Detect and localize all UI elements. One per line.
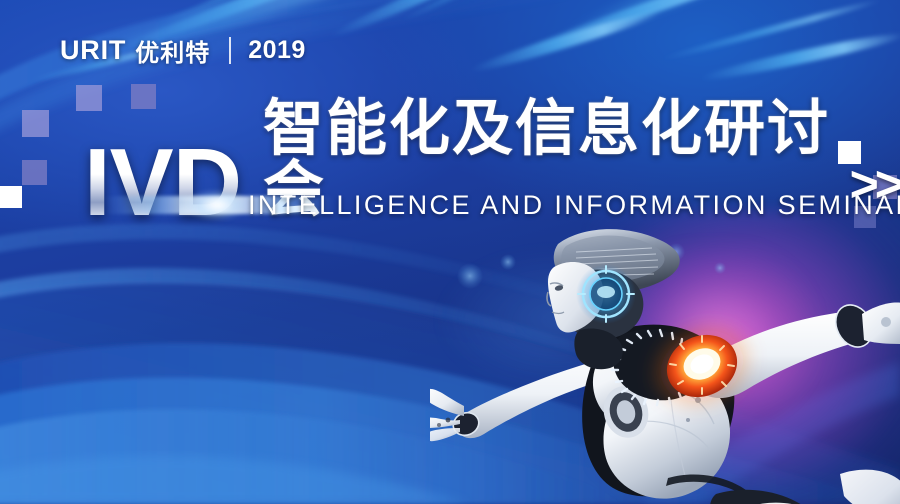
square-left-lavender-2 (22, 160, 47, 185)
logo-divider (229, 37, 231, 64)
ivd-wordmark: IVD (84, 139, 245, 227)
brand-name-en: URIT (60, 35, 126, 66)
humanoid-robot-illustration (430, 218, 900, 504)
square-left-edge-white (0, 186, 22, 208)
square-left-lavender-1 (22, 110, 49, 137)
brand-name-cn: 优利特 (135, 33, 210, 68)
brand-logo: URIT 优利特 2019 (60, 34, 306, 66)
event-banner: URIT 优利特 2019 IVD 智能化及信息化研讨会 >> INTELLIG… (0, 0, 900, 504)
page-subtitle: INTELLIGENCE AND INFORMATION SEMINARS (248, 190, 900, 221)
event-year: 2019 (248, 36, 306, 65)
